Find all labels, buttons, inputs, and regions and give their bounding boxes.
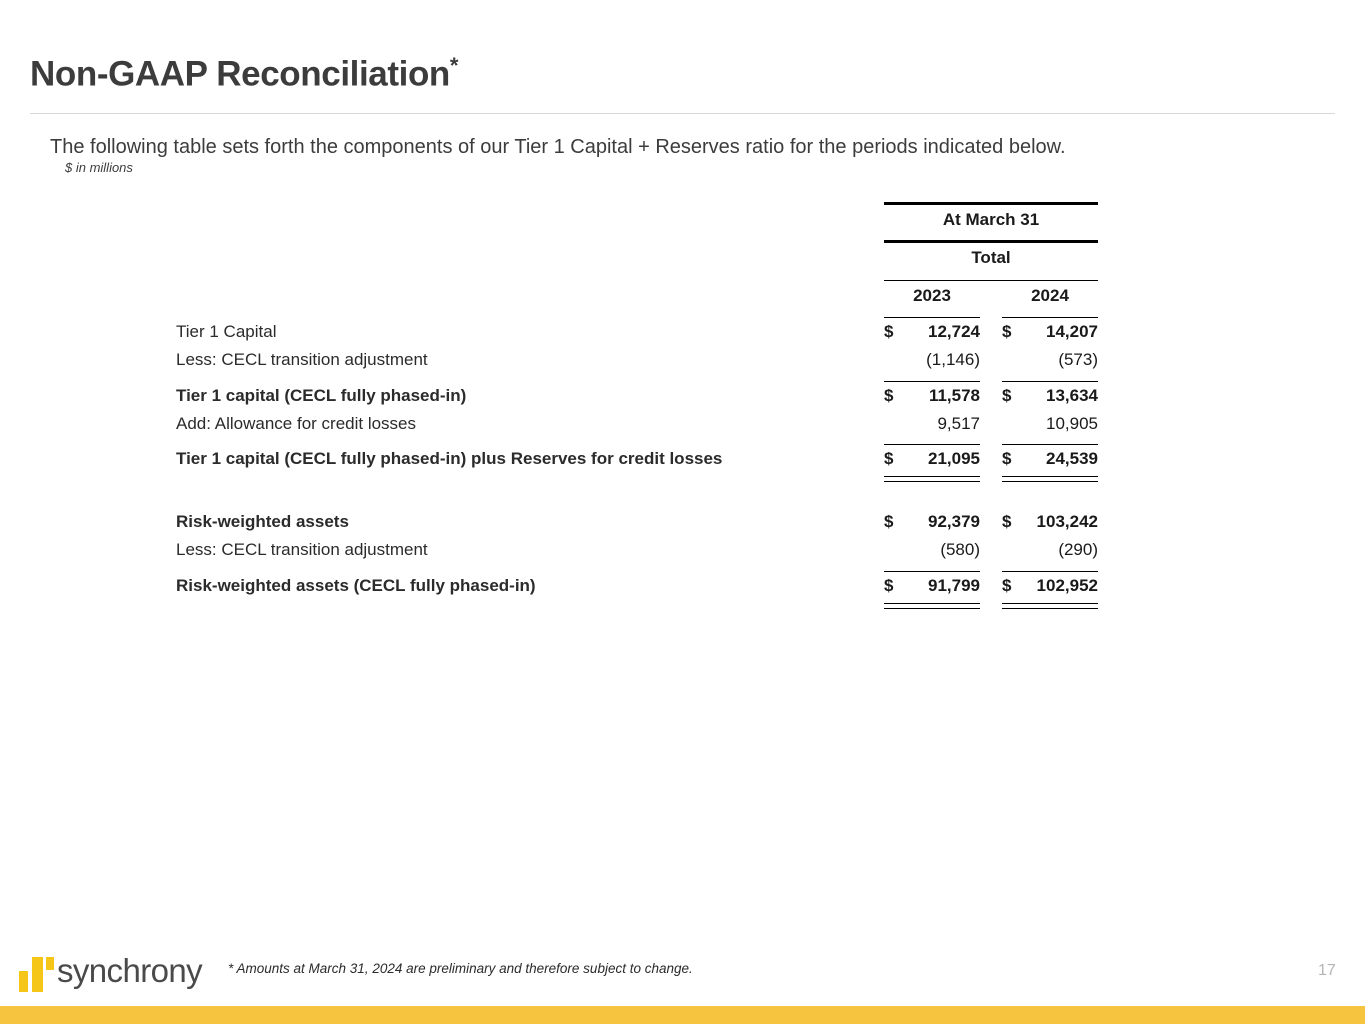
row-label: Tier 1 Capital	[176, 318, 870, 347]
value-text: 102,952	[1037, 576, 1098, 595]
total-double-rule-gap	[980, 600, 1002, 609]
rule-spacer	[176, 311, 870, 318]
page-number: 17	[1318, 962, 1336, 980]
currency-symbol: $	[884, 508, 893, 536]
spacer-cell	[176, 482, 870, 508]
title-asterisk: *	[450, 53, 458, 78]
header-rule-2023	[884, 311, 980, 318]
table-row: Risk-weighted assets $92,379 $103,242	[176, 508, 1098, 536]
value-text: 92,379	[928, 512, 980, 531]
total-double-rule-2024	[1002, 600, 1098, 609]
rule-spacer	[870, 438, 884, 445]
row-mid-gap	[980, 346, 1002, 374]
currency-symbol: $	[884, 445, 893, 473]
value-text: (580)	[940, 540, 980, 559]
currency-symbol: $	[884, 382, 893, 410]
double-rule	[884, 603, 980, 609]
table-row: Tier 1 capital (CECL fully phased-in) $1…	[176, 381, 1098, 410]
rule-spacer	[870, 196, 884, 203]
value-text: 12,724	[928, 322, 980, 341]
page-title: Non-GAAP Reconciliation*	[30, 53, 458, 95]
total-double-rule-2023	[884, 600, 980, 609]
value-text: 10,905	[1046, 414, 1098, 433]
rule-row-top	[176, 196, 1098, 203]
header-group-label: Total	[884, 242, 1098, 274]
value-text: 11,578	[929, 386, 980, 405]
table-row: Less: CECL transition adjustment (580) (…	[176, 536, 1098, 564]
spacer-cell	[884, 482, 980, 508]
row-value-2023: $21,095	[884, 445, 980, 474]
header-top-rule	[884, 196, 1098, 203]
currency-symbol: $	[1002, 508, 1011, 536]
currency-symbol: $	[1002, 318, 1011, 346]
header-year-gap	[980, 280, 1002, 311]
row-gap	[870, 536, 884, 564]
value-text: 24,539	[1046, 449, 1098, 468]
footnote-text: * Amounts at March 31, 2024 are prelimin…	[228, 961, 693, 976]
row-value-2024: $24,539	[1002, 445, 1098, 474]
synchrony-logo-icon	[17, 950, 53, 994]
header-year-row: 2023 2024	[176, 280, 1098, 311]
row-gap	[870, 381, 884, 410]
rule-row-subtotal-1	[176, 374, 1098, 381]
financial-table: At March 31 Total	[176, 196, 1098, 609]
footer-accent-bar	[0, 1006, 1365, 1024]
rule-spacer	[870, 600, 884, 609]
logo-bar-square	[46, 957, 54, 970]
row-gap	[870, 410, 884, 438]
value-text: 9,517	[937, 414, 980, 433]
subtotal-rule-gap	[980, 374, 1002, 381]
section-spacer	[176, 482, 1098, 508]
row-gap	[870, 445, 884, 474]
row-value-2024: (573)	[1002, 346, 1098, 374]
row-value-2023: (1,146)	[884, 346, 980, 374]
header-group-rule	[884, 273, 1098, 280]
rule-spacer	[176, 564, 870, 571]
row-value-2024: $13,634	[1002, 381, 1098, 410]
total-double-rule-2024	[1002, 473, 1098, 482]
total-double-rule-gap	[980, 473, 1002, 482]
row-value-2024: (290)	[1002, 536, 1098, 564]
header-period-label: At March 31	[884, 203, 1098, 235]
row-label: Tier 1 capital (CECL fully phased-in)	[176, 381, 870, 410]
rule-row-total-1	[176, 473, 1098, 482]
row-label: Less: CECL transition adjustment	[176, 536, 870, 564]
subtotal-rule-2024	[1002, 374, 1098, 381]
rule-row-period	[176, 235, 1098, 242]
rule-spacer	[870, 273, 884, 280]
value-text: (290)	[1058, 540, 1098, 559]
value-text: 21,095	[928, 449, 980, 468]
rule-spacer	[870, 473, 884, 482]
spacer-cell	[980, 482, 1002, 508]
row-label: Risk-weighted assets	[176, 508, 870, 536]
row-gap	[870, 346, 884, 374]
rule-row-total-2	[176, 600, 1098, 609]
header-year-2024: 2024	[1002, 280, 1098, 311]
subtitle-text: The following table sets forth the compo…	[50, 136, 1066, 159]
rule-row-group	[176, 273, 1098, 280]
value-text: 103,242	[1037, 512, 1098, 531]
header-period-rule	[884, 235, 1098, 242]
rule-spacer	[176, 374, 870, 381]
title-divider	[30, 113, 1335, 114]
row-value-2023: (580)	[884, 536, 980, 564]
row-mid-gap	[980, 318, 1002, 347]
double-rule	[1002, 603, 1098, 609]
row-mid-gap	[980, 508, 1002, 536]
subtotal-rule-2023	[884, 438, 980, 445]
subtotal-rule-2023	[884, 564, 980, 571]
rule-spacer	[176, 600, 870, 609]
row-value-2024: $14,207	[1002, 318, 1098, 347]
header-gap-spacer	[870, 203, 884, 235]
synchrony-logo: synchrony	[17, 950, 192, 996]
header-rule-2024	[1002, 311, 1098, 318]
subtotal-rule-gap	[980, 564, 1002, 571]
row-value-2024: $103,242	[1002, 508, 1098, 536]
spacer-cell	[1002, 482, 1098, 508]
rule-spacer	[870, 374, 884, 381]
table-row: Tier 1 capital (CECL fully phased-in) pl…	[176, 445, 1098, 474]
rule-spacer	[176, 235, 870, 242]
row-label: Less: CECL transition adjustment	[176, 346, 870, 374]
table-row: Tier 1 Capital $12,724 $14,207	[176, 318, 1098, 347]
value-text: 91,799	[928, 576, 980, 595]
synchrony-wordmark: synchrony	[57, 952, 202, 990]
row-mid-gap	[980, 410, 1002, 438]
logo-bar-tall	[32, 957, 43, 992]
table-row: Less: CECL transition adjustment (1,146)…	[176, 346, 1098, 374]
currency-symbol: $	[884, 318, 893, 346]
subtotal-rule-2023	[884, 374, 980, 381]
rule-row-years	[176, 311, 1098, 318]
rule-spacer	[870, 235, 884, 242]
currency-symbol: $	[1002, 572, 1011, 600]
row-label: Add: Allowance for credit losses	[176, 410, 870, 438]
row-value-2023: $12,724	[884, 318, 980, 347]
value-text: (573)	[1058, 350, 1098, 369]
header-label-spacer	[176, 280, 870, 311]
financial-table-container: At March 31 Total	[176, 196, 1078, 609]
row-mid-gap	[980, 571, 1002, 600]
rule-row-subtotal-3	[176, 564, 1098, 571]
row-value-2023: 9,517	[884, 410, 980, 438]
header-rule-gap	[980, 311, 1002, 318]
table-row: Risk-weighted assets (CECL fully phased-…	[176, 571, 1098, 600]
currency-symbol: $	[1002, 382, 1011, 410]
row-gap	[870, 318, 884, 347]
row-gap	[870, 571, 884, 600]
slide-root: Non-GAAP Reconciliation* The following t…	[0, 0, 1365, 1024]
rule-row-subtotal-2	[176, 438, 1098, 445]
row-label: Tier 1 capital (CECL fully phased-in) pl…	[176, 445, 870, 474]
rule-spacer	[176, 473, 870, 482]
header-gap-spacer	[870, 242, 884, 274]
row-value-2023: $91,799	[884, 571, 980, 600]
row-value-2023: $11,578	[884, 381, 980, 410]
spacer-cell	[870, 482, 884, 508]
header-label-spacer	[176, 242, 870, 274]
value-text: 14,207	[1046, 322, 1098, 341]
value-text: 13,634	[1046, 386, 1098, 405]
header-year-2023: 2023	[884, 280, 980, 311]
row-mid-gap	[980, 445, 1002, 474]
units-note: $ in millions	[65, 160, 133, 175]
row-label: Risk-weighted assets (CECL fully phased-…	[176, 571, 870, 600]
header-group-row: Total	[176, 242, 1098, 274]
subtotal-rule-2024	[1002, 438, 1098, 445]
row-mid-gap	[980, 381, 1002, 410]
logo-bar-short	[19, 971, 28, 992]
row-mid-gap	[980, 536, 1002, 564]
header-period-row: At March 31	[176, 203, 1098, 235]
rule-spacer	[176, 196, 870, 203]
header-label-spacer	[176, 203, 870, 235]
currency-symbol: $	[884, 572, 893, 600]
row-value-2024: $102,952	[1002, 571, 1098, 600]
value-text: (1,146)	[926, 350, 980, 369]
row-value-2023: $92,379	[884, 508, 980, 536]
table-row: Add: Allowance for credit losses 9,517 1…	[176, 410, 1098, 438]
page-title-text: Non-GAAP Reconciliation	[30, 55, 450, 94]
currency-symbol: $	[1002, 445, 1011, 473]
total-double-rule-2023	[884, 473, 980, 482]
rule-spacer	[176, 438, 870, 445]
header-gap-spacer	[870, 280, 884, 311]
rule-spacer	[176, 273, 870, 280]
subtotal-rule-gap	[980, 438, 1002, 445]
rule-spacer	[870, 564, 884, 571]
row-value-2024: 10,905	[1002, 410, 1098, 438]
row-gap	[870, 508, 884, 536]
subtotal-rule-2024	[1002, 564, 1098, 571]
rule-spacer	[870, 311, 884, 318]
